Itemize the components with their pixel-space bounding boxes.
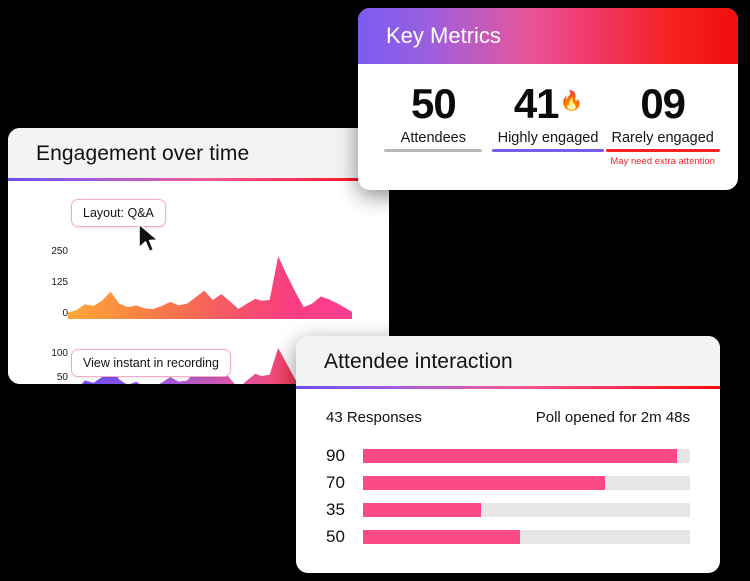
poll-results-list: 90703550	[326, 446, 690, 547]
metric-rarely-engaged-number: 09	[640, 82, 685, 126]
poll-result-label: 35	[326, 500, 352, 520]
poll-result-row[interactable]: 90	[326, 446, 690, 466]
attendee-card-body: 43 Responses Poll opened for 2m 48s 9070…	[296, 389, 720, 547]
metric-attendees-value: 50	[411, 82, 456, 126]
metric-rarely-engaged-note: May need extra attention	[605, 156, 720, 167]
fire-icon: 🔥	[560, 92, 583, 112]
key-metrics-title: Key Metrics	[386, 23, 501, 49]
mouse-pointer-icon	[136, 222, 162, 254]
poll-result-row[interactable]: 50	[326, 527, 690, 547]
y-tick-lower-0: 100	[34, 349, 68, 359]
upper-chart-y-axis: 250 125 0	[34, 247, 68, 319]
poll-result-fill	[363, 476, 605, 490]
poll-result-label: 50	[326, 527, 352, 547]
engagement-upper-area-chart[interactable]	[68, 243, 352, 319]
poll-timer: Poll opened for 2m 48s	[536, 409, 690, 426]
poll-result-label: 90	[326, 446, 352, 466]
metric-rarely-engaged[interactable]: 09 Rarely engaged May need extra attenti…	[605, 82, 720, 190]
metric-attendees[interactable]: 50 Attendees	[376, 82, 491, 190]
metric-highly-engaged-value: 41 🔥	[514, 82, 582, 126]
metric-highly-engaged-label: Highly engaged	[491, 130, 606, 146]
poll-result-track	[363, 503, 690, 517]
attendee-card-title: Attendee interaction	[324, 350, 692, 374]
metric-attendees-number: 50	[411, 82, 456, 126]
metric-highly-engaged[interactable]: 41 🔥 Highly engaged	[491, 82, 606, 190]
poll-result-fill	[363, 530, 520, 544]
poll-result-row[interactable]: 70	[326, 473, 690, 493]
metric-highly-engaged-underline	[492, 149, 604, 152]
metric-rarely-engaged-label: Rarely engaged	[605, 130, 720, 146]
key-metrics-header: Key Metrics	[358, 8, 738, 64]
poll-result-track	[363, 449, 690, 463]
poll-result-fill	[363, 503, 481, 517]
attendee-card-header: Attendee interaction	[296, 336, 720, 386]
y-tick-upper-1: 125	[34, 278, 68, 288]
poll-result-track	[363, 530, 690, 544]
engagement-card-header: Engagement over time	[8, 128, 389, 178]
poll-result-track	[363, 476, 690, 490]
poll-result-row[interactable]: 35	[326, 500, 690, 520]
poll-result-fill	[363, 449, 677, 463]
lower-chart-y-axis: 100 50 0	[34, 349, 68, 384]
metric-highly-engaged-number: 41	[514, 82, 559, 126]
key-metrics-body: 50 Attendees 41 🔥 Highly engaged 09 Rare…	[358, 64, 738, 190]
dashboard-stage: Engagement over time 250 125 0	[0, 0, 750, 581]
metric-rarely-engaged-underline	[606, 149, 720, 152]
y-tick-upper-2: 0	[34, 309, 68, 319]
view-instant-in-recording-chip[interactable]: View instant in recording	[71, 349, 231, 377]
responses-count: 43 Responses	[326, 409, 422, 426]
poll-result-label: 70	[326, 473, 352, 493]
key-metrics-card[interactable]: Key Metrics 50 Attendees 41 🔥 Highly eng…	[358, 8, 738, 190]
metric-attendees-underline	[384, 149, 482, 152]
metric-attendees-label: Attendees	[376, 130, 491, 146]
attendee-interaction-card[interactable]: Attendee interaction 43 Responses Poll o…	[296, 336, 720, 573]
poll-meta-row: 43 Responses Poll opened for 2m 48s	[326, 409, 690, 426]
engagement-card-title: Engagement over time	[36, 142, 361, 166]
y-tick-lower-1: 50	[34, 373, 68, 383]
metric-rarely-engaged-value: 09	[640, 82, 685, 126]
y-tick-upper-0: 250	[34, 247, 68, 257]
